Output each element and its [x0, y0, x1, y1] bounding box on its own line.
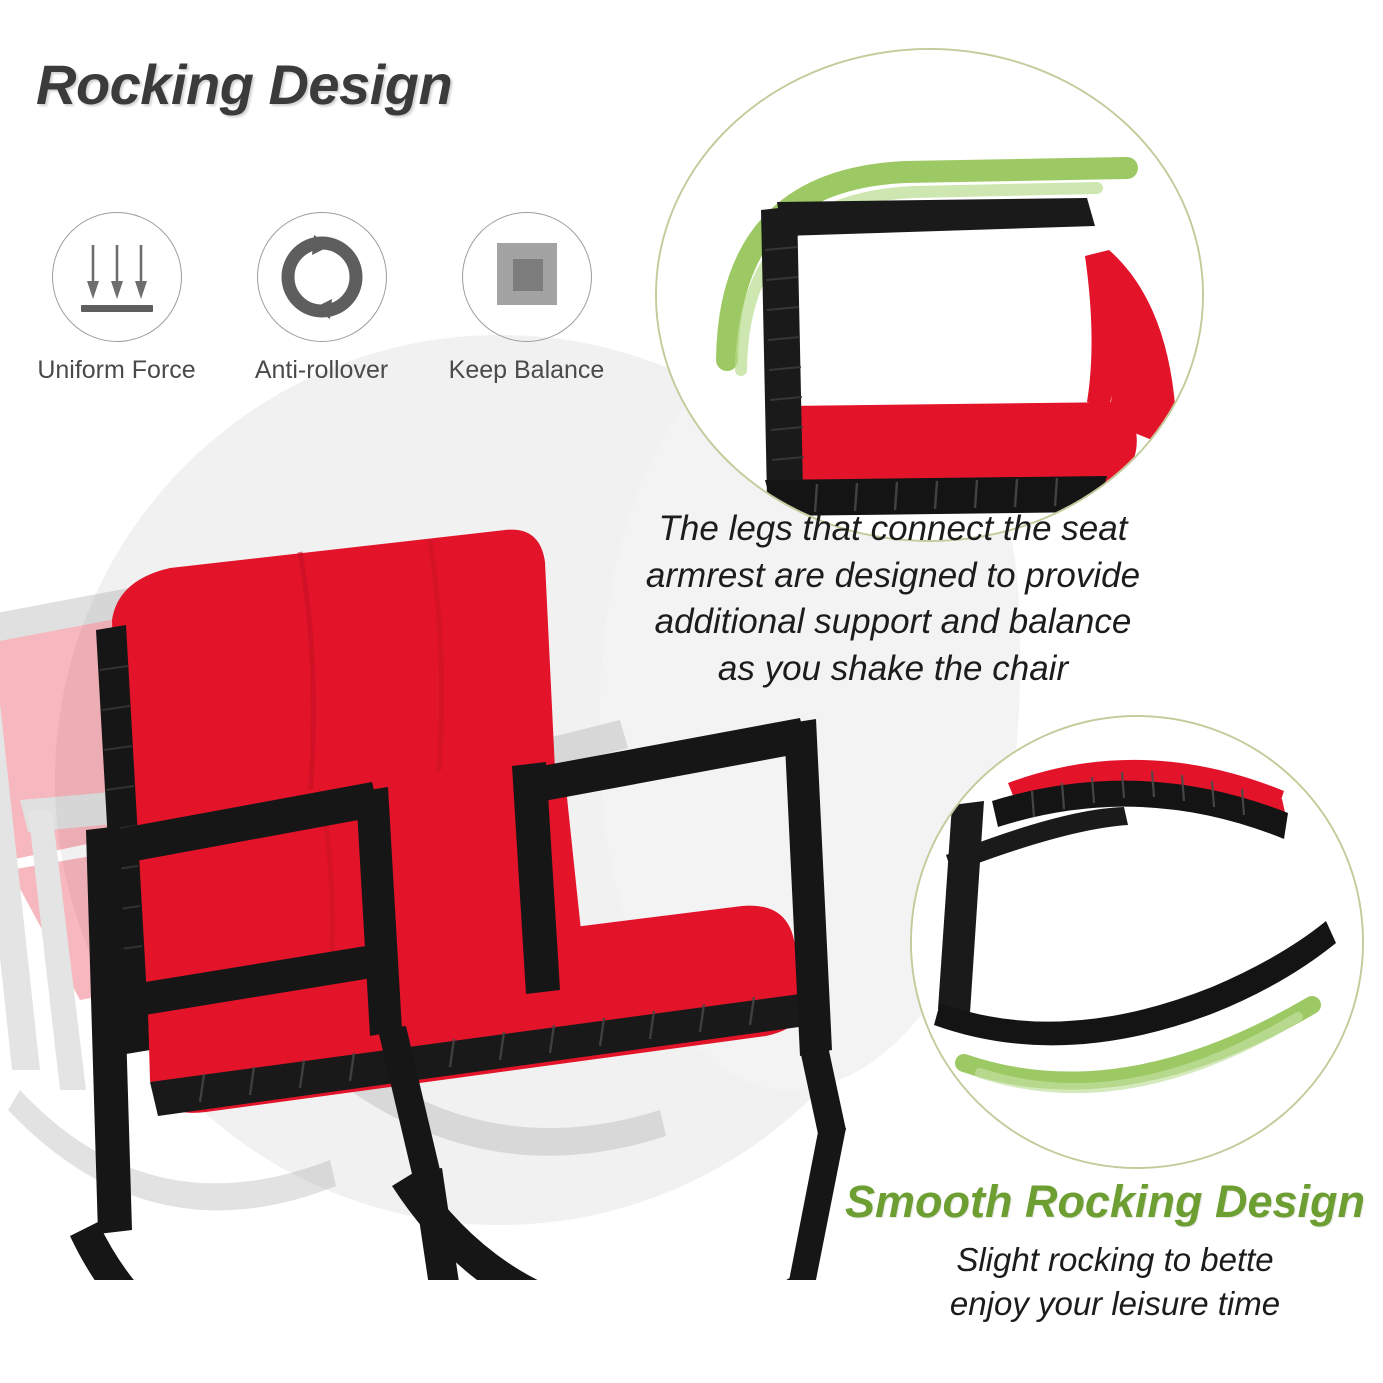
feature-icon-frame: [52, 212, 182, 342]
armrest-caption: The legs that connect the seat armrest a…: [608, 506, 1178, 692]
rocker-brace-right: [786, 1128, 846, 1280]
rocker-runner-left: [70, 1222, 480, 1280]
feature-icon-frame: [462, 212, 592, 342]
feature-anti-rollover: Anti-rollover: [219, 212, 424, 385]
circular-rotation-arrows-icon: [274, 229, 370, 325]
feature-label: Uniform Force: [37, 356, 195, 385]
feature-keep-balance: Keep Balance: [424, 212, 629, 385]
caption-line: enjoy your leisure time: [880, 1282, 1350, 1326]
infographic-page: Rocking Design Uniform Force: [0, 0, 1383, 1383]
inset-rocker-closeup: [910, 715, 1364, 1169]
rocker-base-closeup-graphic: [912, 717, 1362, 1167]
armrest-leg-closeup-graphic: [657, 50, 1202, 540]
inset-armrest-closeup: [655, 48, 1204, 542]
smooth-rocking-heading: Smooth Rocking Design: [845, 1176, 1383, 1228]
page-title: Rocking Design: [36, 52, 452, 117]
front-leg-right: [800, 1046, 846, 1134]
caption-line: as you shake the chair: [608, 646, 1178, 693]
feature-uniform-force: Uniform Force: [14, 212, 219, 385]
downward-arrows-on-bar-icon: [69, 229, 165, 325]
caption-line: additional support and balance: [608, 599, 1178, 646]
nested-squares-icon: [479, 229, 575, 325]
feature-row: Uniform Force Anti-rollover Keep Bal: [14, 212, 629, 385]
feature-label: Keep Balance: [449, 356, 605, 385]
feature-icon-frame: [257, 212, 387, 342]
caption-line: armrest are designed to provide: [608, 553, 1178, 600]
feature-label: Anti-rollover: [255, 356, 388, 385]
caption-line: The legs that connect the seat: [608, 506, 1178, 553]
smooth-rocking-caption: Slight rocking to bette enjoy your leisu…: [880, 1238, 1350, 1325]
caption-line: Slight rocking to bette: [880, 1238, 1350, 1282]
